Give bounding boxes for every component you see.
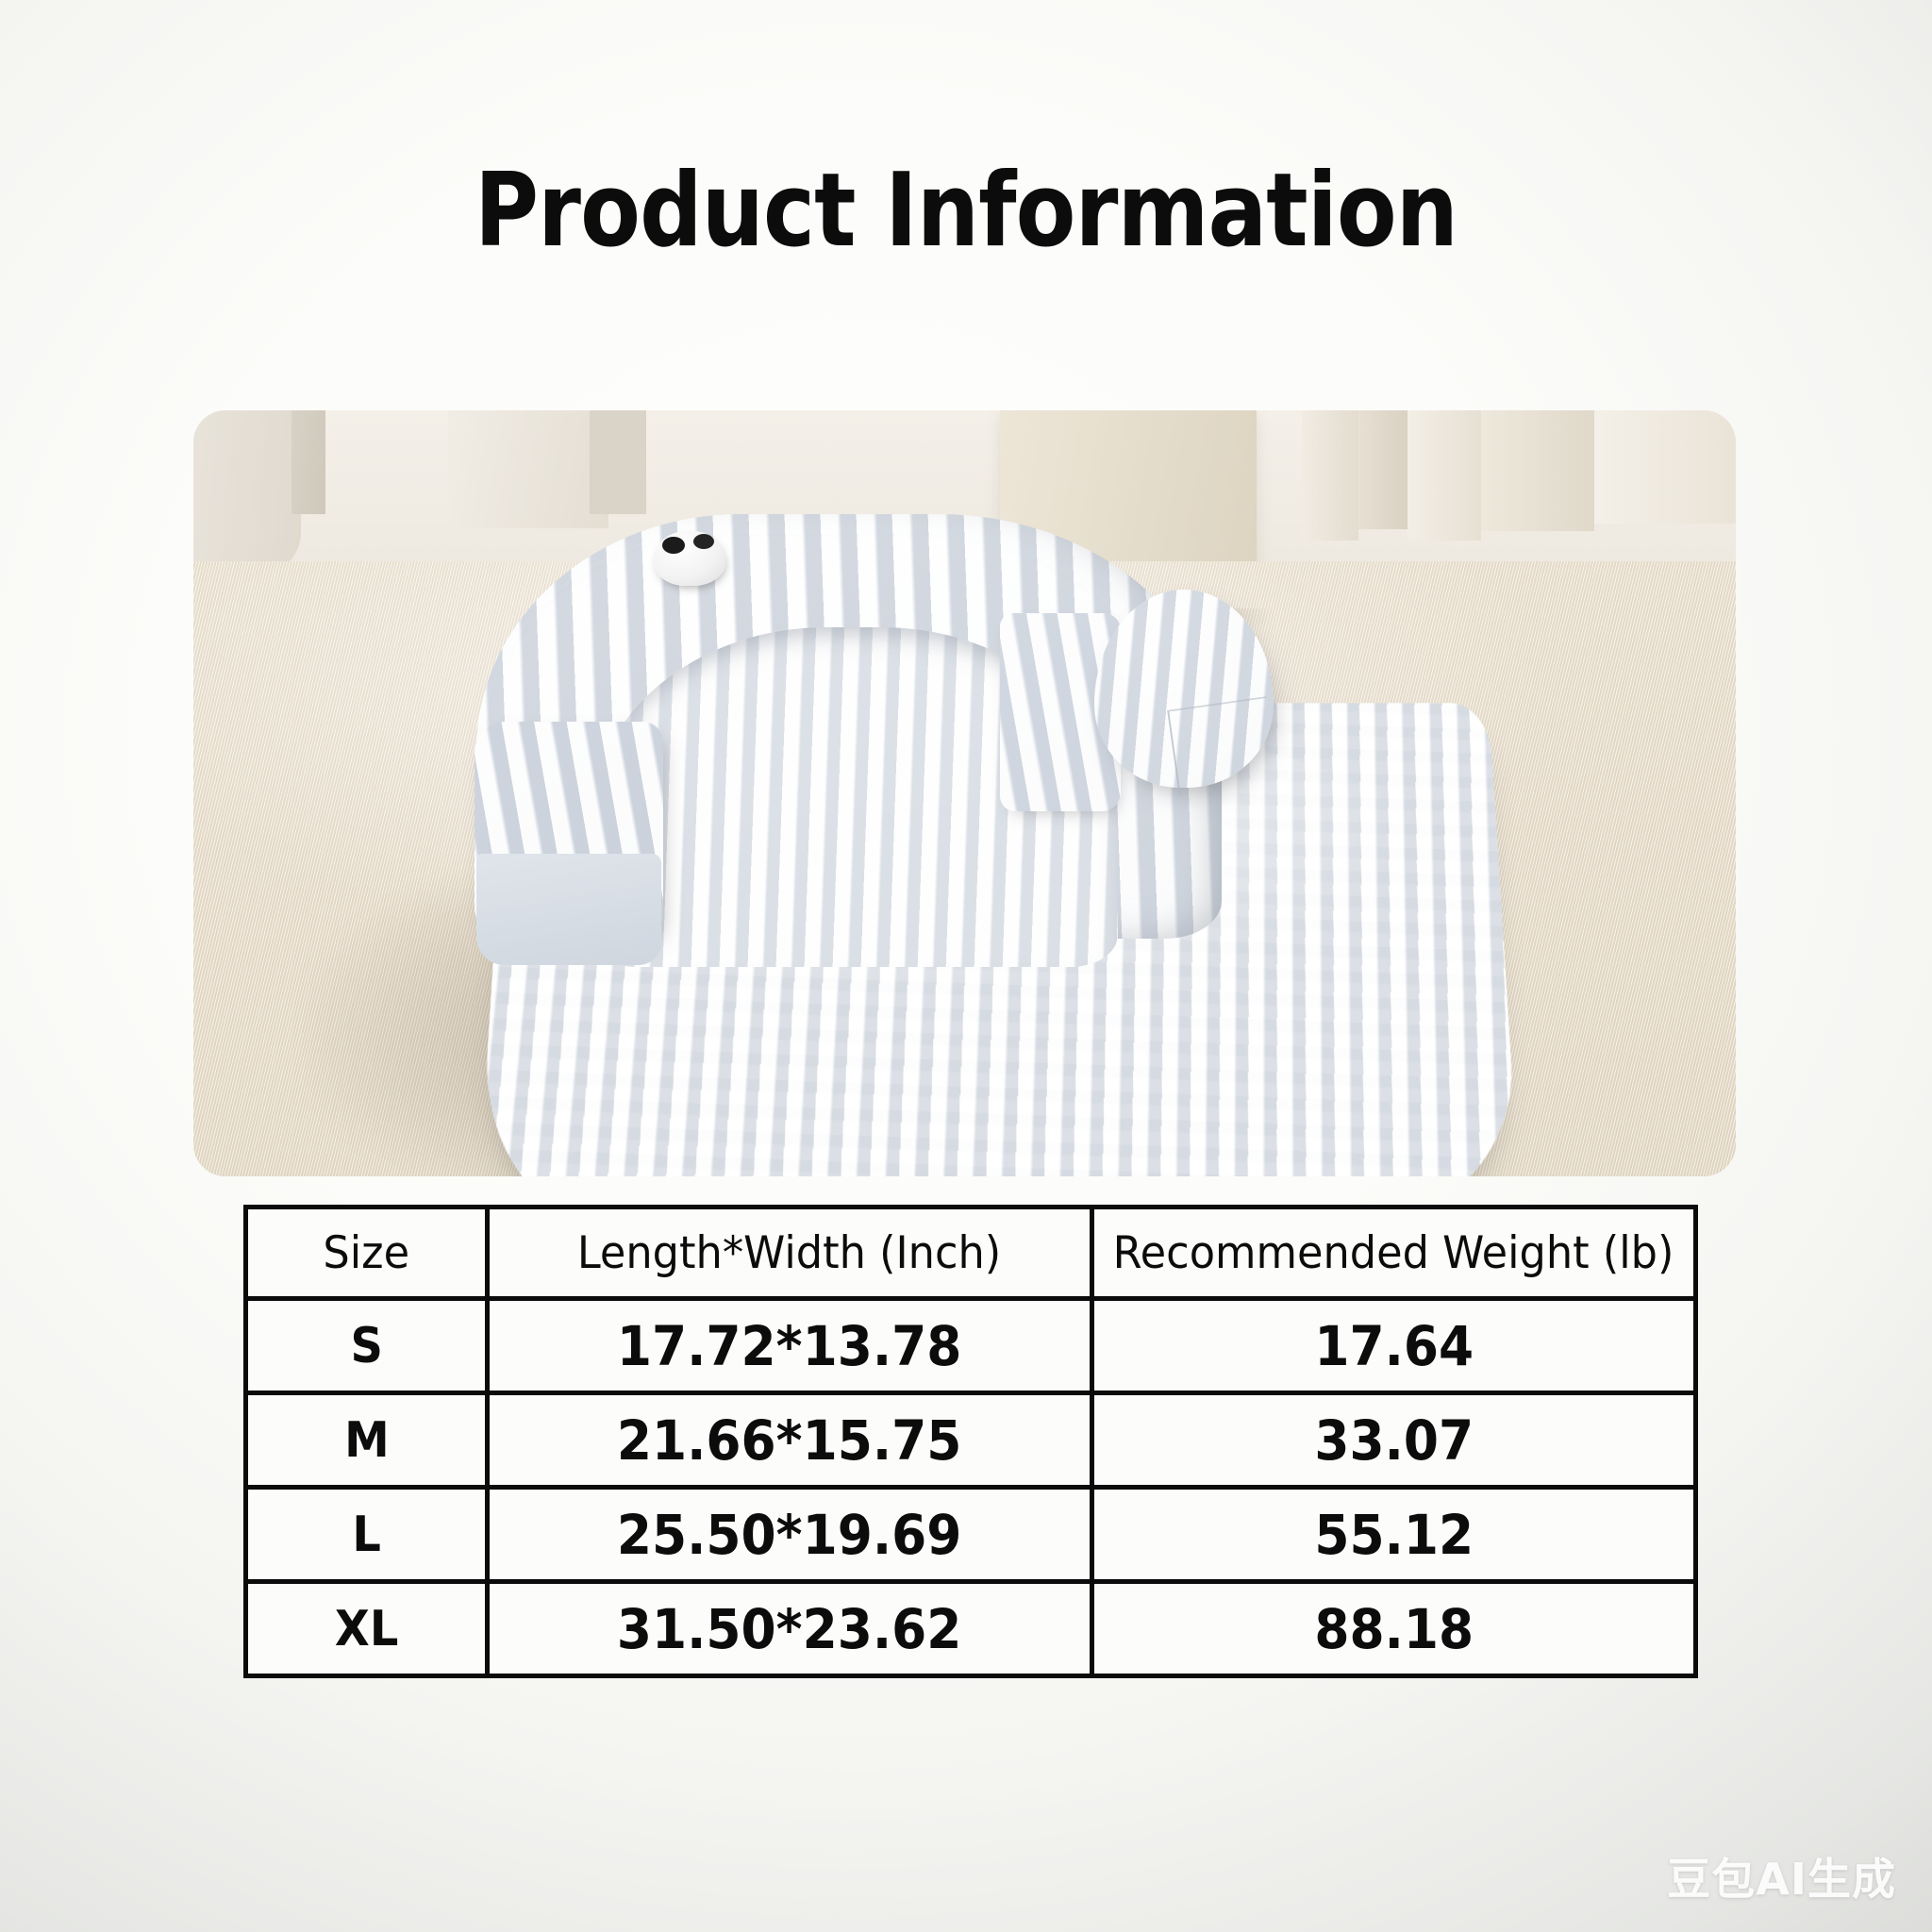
- table-row: L 25.50*19.69 55.12: [246, 1488, 1696, 1582]
- furniture-panel-mid-edge: [590, 410, 646, 514]
- background-panel-c: [1407, 410, 1481, 541]
- panda-ornament-eye-right: [693, 534, 714, 549]
- cell-dimensions: 21.66*15.75: [488, 1393, 1092, 1488]
- furniture-panel-left: [193, 410, 301, 575]
- cell-size: L: [246, 1488, 488, 1582]
- background-panel-e: [1594, 410, 1736, 524]
- table-row: S 17.72*13.78 17.64: [246, 1299, 1696, 1393]
- cell-weight: 88.18: [1092, 1582, 1696, 1676]
- product-information-page: Product Information: [0, 0, 1932, 1932]
- cell-dimensions: 17.72*13.78: [488, 1299, 1092, 1393]
- cell-size: M: [246, 1393, 488, 1488]
- panda-ornament-eye-left: [662, 537, 685, 554]
- cell-size: XL: [246, 1582, 488, 1676]
- cell-dimensions: 31.50*23.62: [488, 1582, 1092, 1676]
- furniture-panel-mid: [448, 410, 608, 528]
- size-specification-table: Size Length*Width (Inch) Recommended Wei…: [243, 1205, 1698, 1678]
- cell-dimensions: 25.50*19.69: [488, 1488, 1092, 1582]
- background-panel-b: [1358, 410, 1407, 529]
- table-row: M 21.66*15.75 33.07: [246, 1393, 1696, 1488]
- product-photo: [193, 410, 1736, 1176]
- bolster-arm-left-face: [476, 854, 661, 965]
- ai-generated-watermark: 豆包AI生成: [1667, 1845, 1896, 1907]
- background-panel-a: [1302, 410, 1358, 541]
- furniture-panel-left-edge: [291, 410, 325, 514]
- table-header-row: Size Length*Width (Inch) Recommended Wei…: [246, 1207, 1696, 1299]
- header-size: Size: [246, 1207, 488, 1299]
- header-weight: Recommended Weight (lb): [1092, 1207, 1696, 1299]
- page-title: Product Information: [135, 160, 1796, 262]
- cell-size: S: [246, 1299, 488, 1393]
- cell-weight: 33.07: [1092, 1393, 1696, 1488]
- table-row: XL 31.50*23.62 88.18: [246, 1582, 1696, 1676]
- background-panel-d: [1481, 410, 1594, 531]
- cell-weight: 17.64: [1092, 1299, 1696, 1393]
- header-dimensions: Length*Width (Inch): [488, 1207, 1092, 1299]
- cell-weight: 55.12: [1092, 1488, 1696, 1582]
